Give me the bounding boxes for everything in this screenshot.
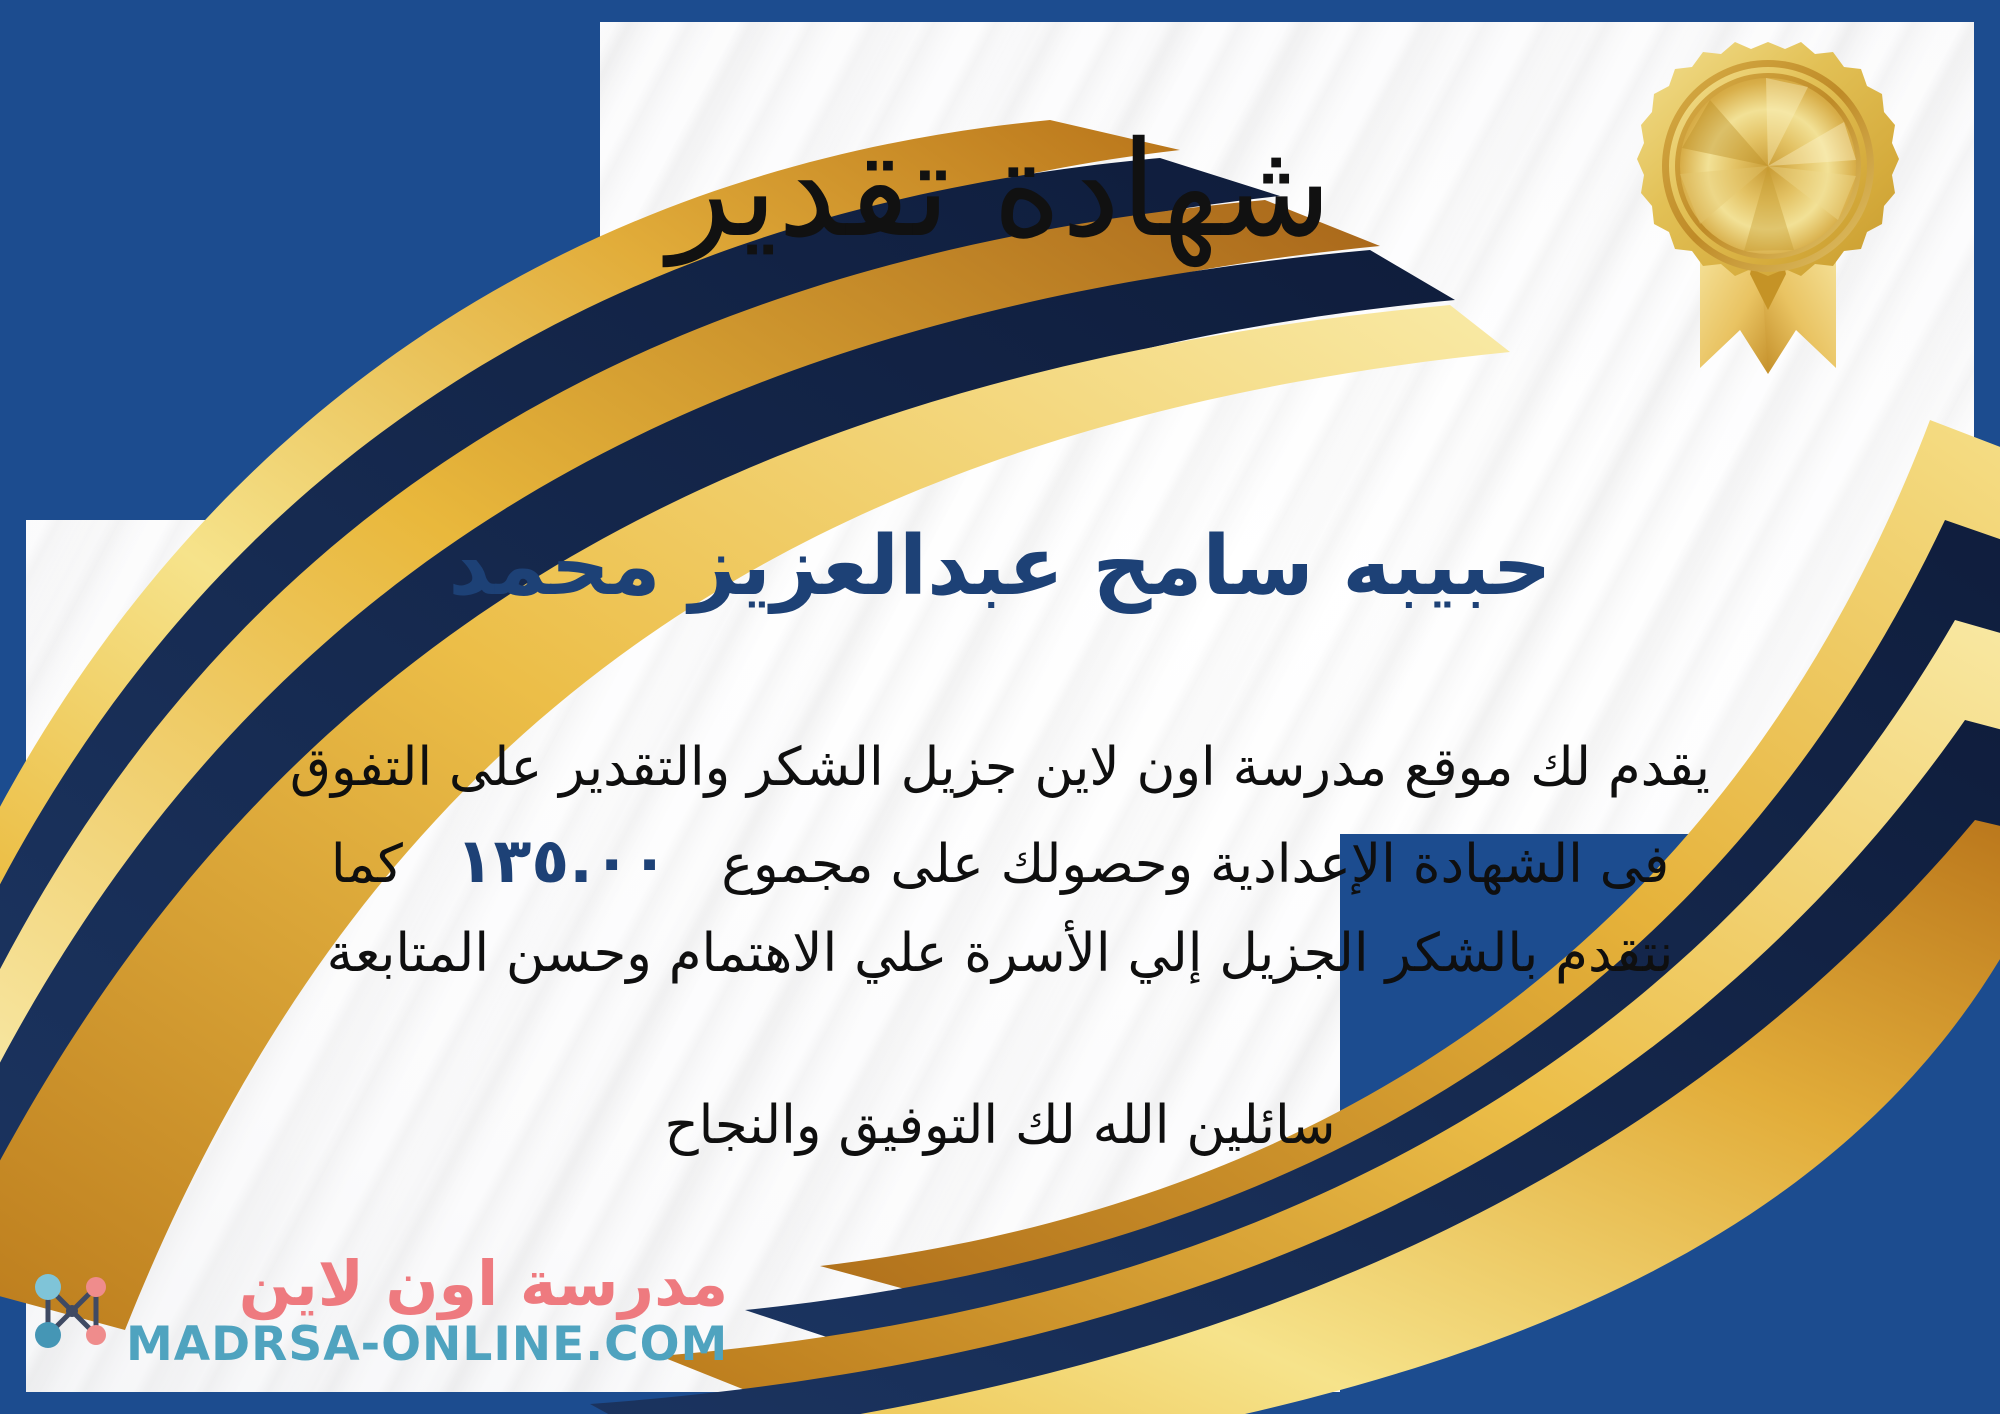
logo-text-group: مدرسة اون لاين MADRSA-ONLINE.COM — [126, 1253, 728, 1368]
grade-value: ١٣٥.٠٠ — [420, 824, 705, 897]
network-nodes-icon — [24, 1261, 120, 1361]
closing-line: سائلين الله لك التوفيق والنجاح — [0, 1095, 2000, 1156]
recipient-name: حبيبه سامح عبدالعزيز محمد — [0, 520, 2000, 614]
site-logo[interactable]: مدرسة اون لاين MADRSA-ONLINE.COM — [24, 1253, 728, 1368]
logo-website-url: MADRSA-ONLINE.COM — [126, 1321, 728, 1368]
body-line-1: يقدم لك موقع مدرسة اون لاين جزيل الشكر و… — [40, 725, 1960, 811]
certificate-body: يقدم لك موقع مدرسة اون لاين جزيل الشكر و… — [40, 725, 1960, 997]
gold-medal-seal-icon — [1628, 38, 1908, 378]
body-line-3: نتقدم بالشكر الجزيل إلي الأسرة علي الاهت… — [40, 911, 1960, 997]
certificate-page: شهادة تقدير حبيبه سامح عبدالعزيز محمد يق… — [0, 0, 2000, 1414]
body-line-2-after: كما — [331, 834, 403, 895]
logo-arabic-name: مدرسة اون لاين — [239, 1253, 729, 1315]
body-line-2-before: فى الشهادة الإعدادية وحصولك على مجموع — [721, 834, 1669, 895]
body-line-2: فى الشهادة الإعدادية وحصولك على مجموع ١٣… — [40, 811, 1960, 911]
